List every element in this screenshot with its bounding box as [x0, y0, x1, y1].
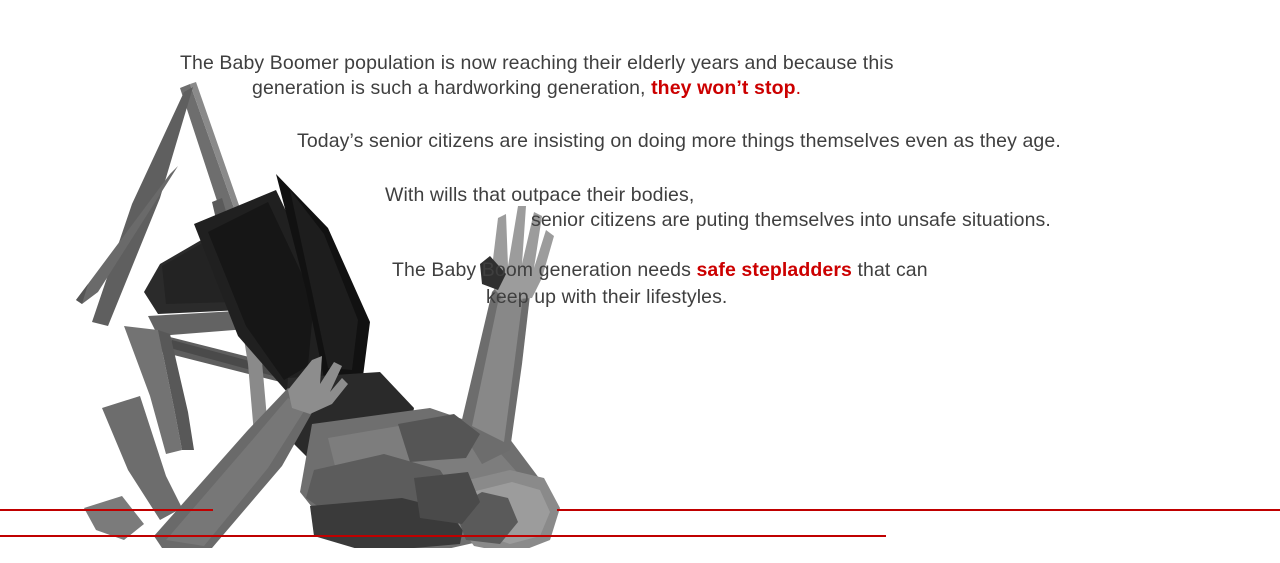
- paragraph-4-line-1: The Baby Boom generation needs safe step…: [392, 258, 928, 282]
- paragraph-1-line-2-prefix: generation is such a hardworking generat…: [252, 77, 651, 99]
- emphasis-they-wont-stop: they won’t stop: [651, 77, 796, 99]
- red-rule-upper-right: [557, 509, 1280, 511]
- body-copy: The Baby Boomer population is now reachi…: [0, 0, 1280, 340]
- paragraph-1-line-2-suffix: .: [796, 77, 802, 99]
- paragraph-4-line-2: keep up with their lifestyles.: [486, 285, 727, 309]
- paragraph-4-line-1-prefix: The Baby Boom generation needs: [392, 259, 696, 281]
- paragraph-1-line-1: The Baby Boomer population is now reachi…: [180, 51, 894, 75]
- paragraph-1-line-2: generation is such a hardworking generat…: [252, 76, 801, 100]
- slide-canvas: The Baby Boomer population is now reachi…: [0, 0, 1280, 563]
- paragraph-3-line-2: senior citizens are puting themselves in…: [531, 208, 1051, 232]
- paragraph-2-line-1: Today’s senior citizens are insisting on…: [297, 129, 1061, 153]
- red-rule-upper-left: [0, 509, 213, 511]
- paragraph-3-line-1: With wills that outpace their bodies,: [385, 183, 694, 207]
- paragraph-4-line-1-suffix: that can: [852, 259, 928, 281]
- emphasis-safe-stepladders: safe stepladders: [696, 259, 852, 281]
- red-rule-lower: [0, 535, 886, 537]
